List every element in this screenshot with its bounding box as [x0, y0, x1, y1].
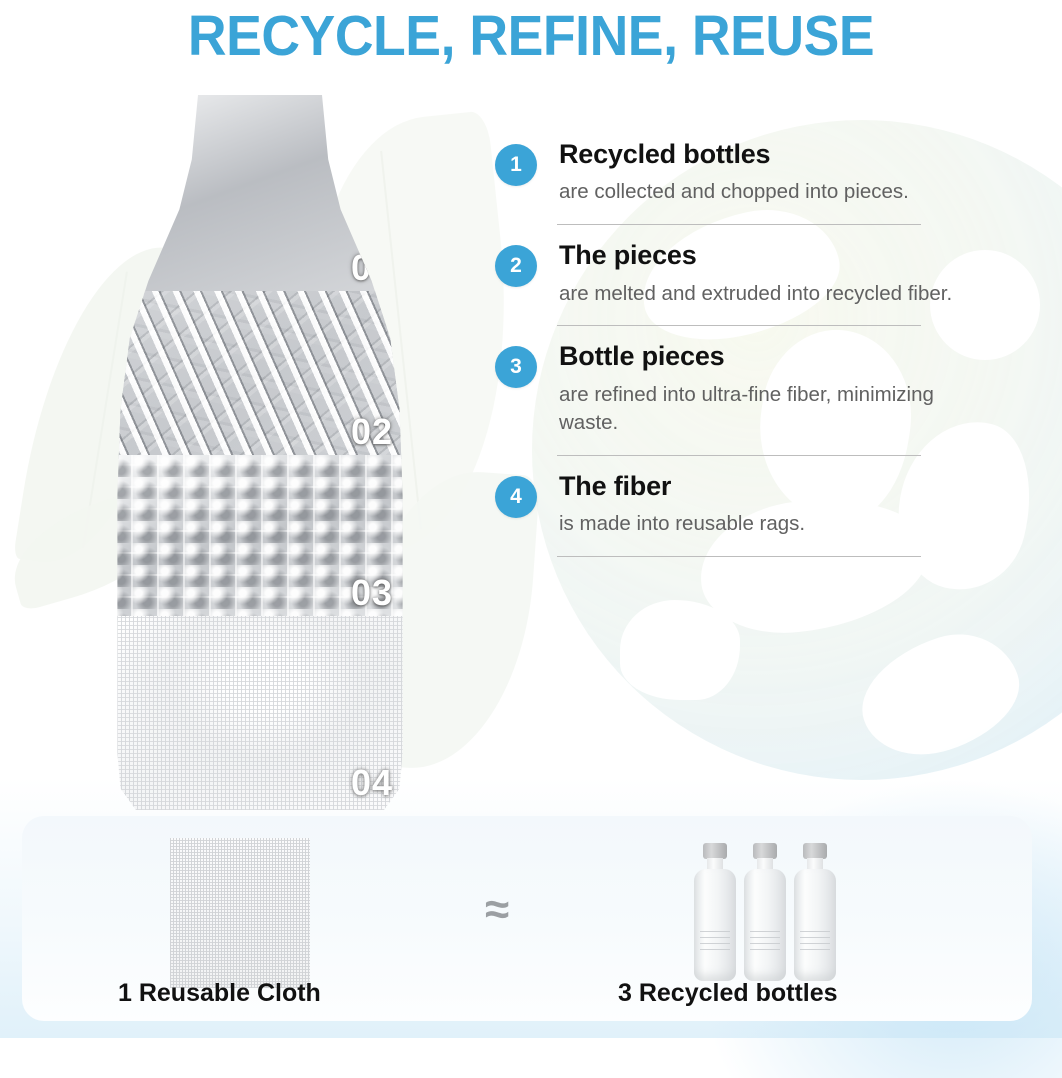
bottle-body — [694, 869, 736, 981]
bottle-rib — [700, 937, 730, 938]
three-bottles-icon — [694, 826, 844, 981]
bottle-segment-02: 02 — [105, 291, 415, 459]
bottle-segment-01: 01 — [105, 95, 415, 295]
bottle-rib — [800, 937, 830, 938]
bottle-body — [794, 869, 836, 981]
bottle-body — [744, 869, 786, 981]
segment-number-04: 04 — [351, 762, 393, 804]
step-title-4: The fiber — [559, 472, 965, 500]
step-badge-4: 4 — [495, 476, 537, 518]
step-item-3: 3 Bottle pieces are refined into ultra-f… — [495, 342, 965, 436]
comparison-right-label: 3 Recycled bottles — [618, 979, 838, 1008]
bottle-icon — [794, 843, 836, 981]
bottle-cap-icon — [803, 843, 827, 859]
segment-number-01: 01 — [351, 247, 393, 289]
globe-continent — [620, 600, 740, 700]
page-title: RECYCLE, REFINE, REUSE — [32, 3, 1030, 69]
step-description-2: are melted and extruded into recycled fi… — [559, 280, 965, 308]
step-divider — [557, 556, 921, 557]
step-item-4: 4 The fiber is made into reusable rags. — [495, 472, 965, 538]
step-item-1: 1 Recycled bottles are collected and cho… — [495, 140, 965, 206]
step-title-3: Bottle pieces — [559, 342, 965, 370]
bottle-cap-icon — [703, 843, 727, 859]
bottle-diagram: 01 02 03 04 — [105, 95, 415, 810]
step-item-2: 2 The pieces are melted and extruded int… — [495, 241, 965, 307]
step-description-3: are refined into ultra-fine fiber, minim… — [559, 381, 965, 437]
bottle-rib — [800, 949, 830, 950]
step-title-1: Recycled bottles — [559, 140, 965, 168]
bottle-rib — [800, 931, 830, 932]
bottle-rib — [700, 949, 730, 950]
bottle-silhouette: 01 02 03 04 — [105, 95, 415, 810]
process-steps-list: 1 Recycled bottles are collected and cho… — [495, 140, 965, 557]
step-badge-3: 3 — [495, 346, 537, 388]
step-description-4: is made into reusable rags. — [559, 510, 965, 538]
step-badge-2: 2 — [495, 245, 537, 287]
comparison-left-label: 1 Reusable Cloth — [118, 979, 321, 1008]
step-badge-1: 1 — [495, 144, 537, 186]
bottle-segment-04: 04 — [105, 616, 415, 810]
bottle-cap-icon — [753, 843, 777, 859]
bottle-rib — [750, 949, 780, 950]
bottle-icon — [694, 843, 736, 981]
bottle-rib — [700, 931, 730, 932]
segment-number-02: 02 — [351, 411, 393, 453]
comparison-card: ≈ — [22, 816, 1032, 1021]
approximately-equal-icon: ≈ — [485, 888, 509, 932]
bottle-segment-03: 03 — [105, 455, 415, 620]
bottle-icon — [744, 843, 786, 981]
bottle-rib — [750, 937, 780, 938]
bottle-rib — [700, 943, 730, 944]
bottle-rib — [750, 943, 780, 944]
globe-continent — [847, 618, 1033, 772]
bottle-rib — [750, 931, 780, 932]
bottle-rib — [800, 943, 830, 944]
step-title-2: The pieces — [559, 241, 965, 269]
cloth-swatch-icon — [170, 838, 310, 988]
segment-number-03: 03 — [351, 572, 393, 614]
step-description-1: are collected and chopped into pieces. — [559, 178, 965, 206]
